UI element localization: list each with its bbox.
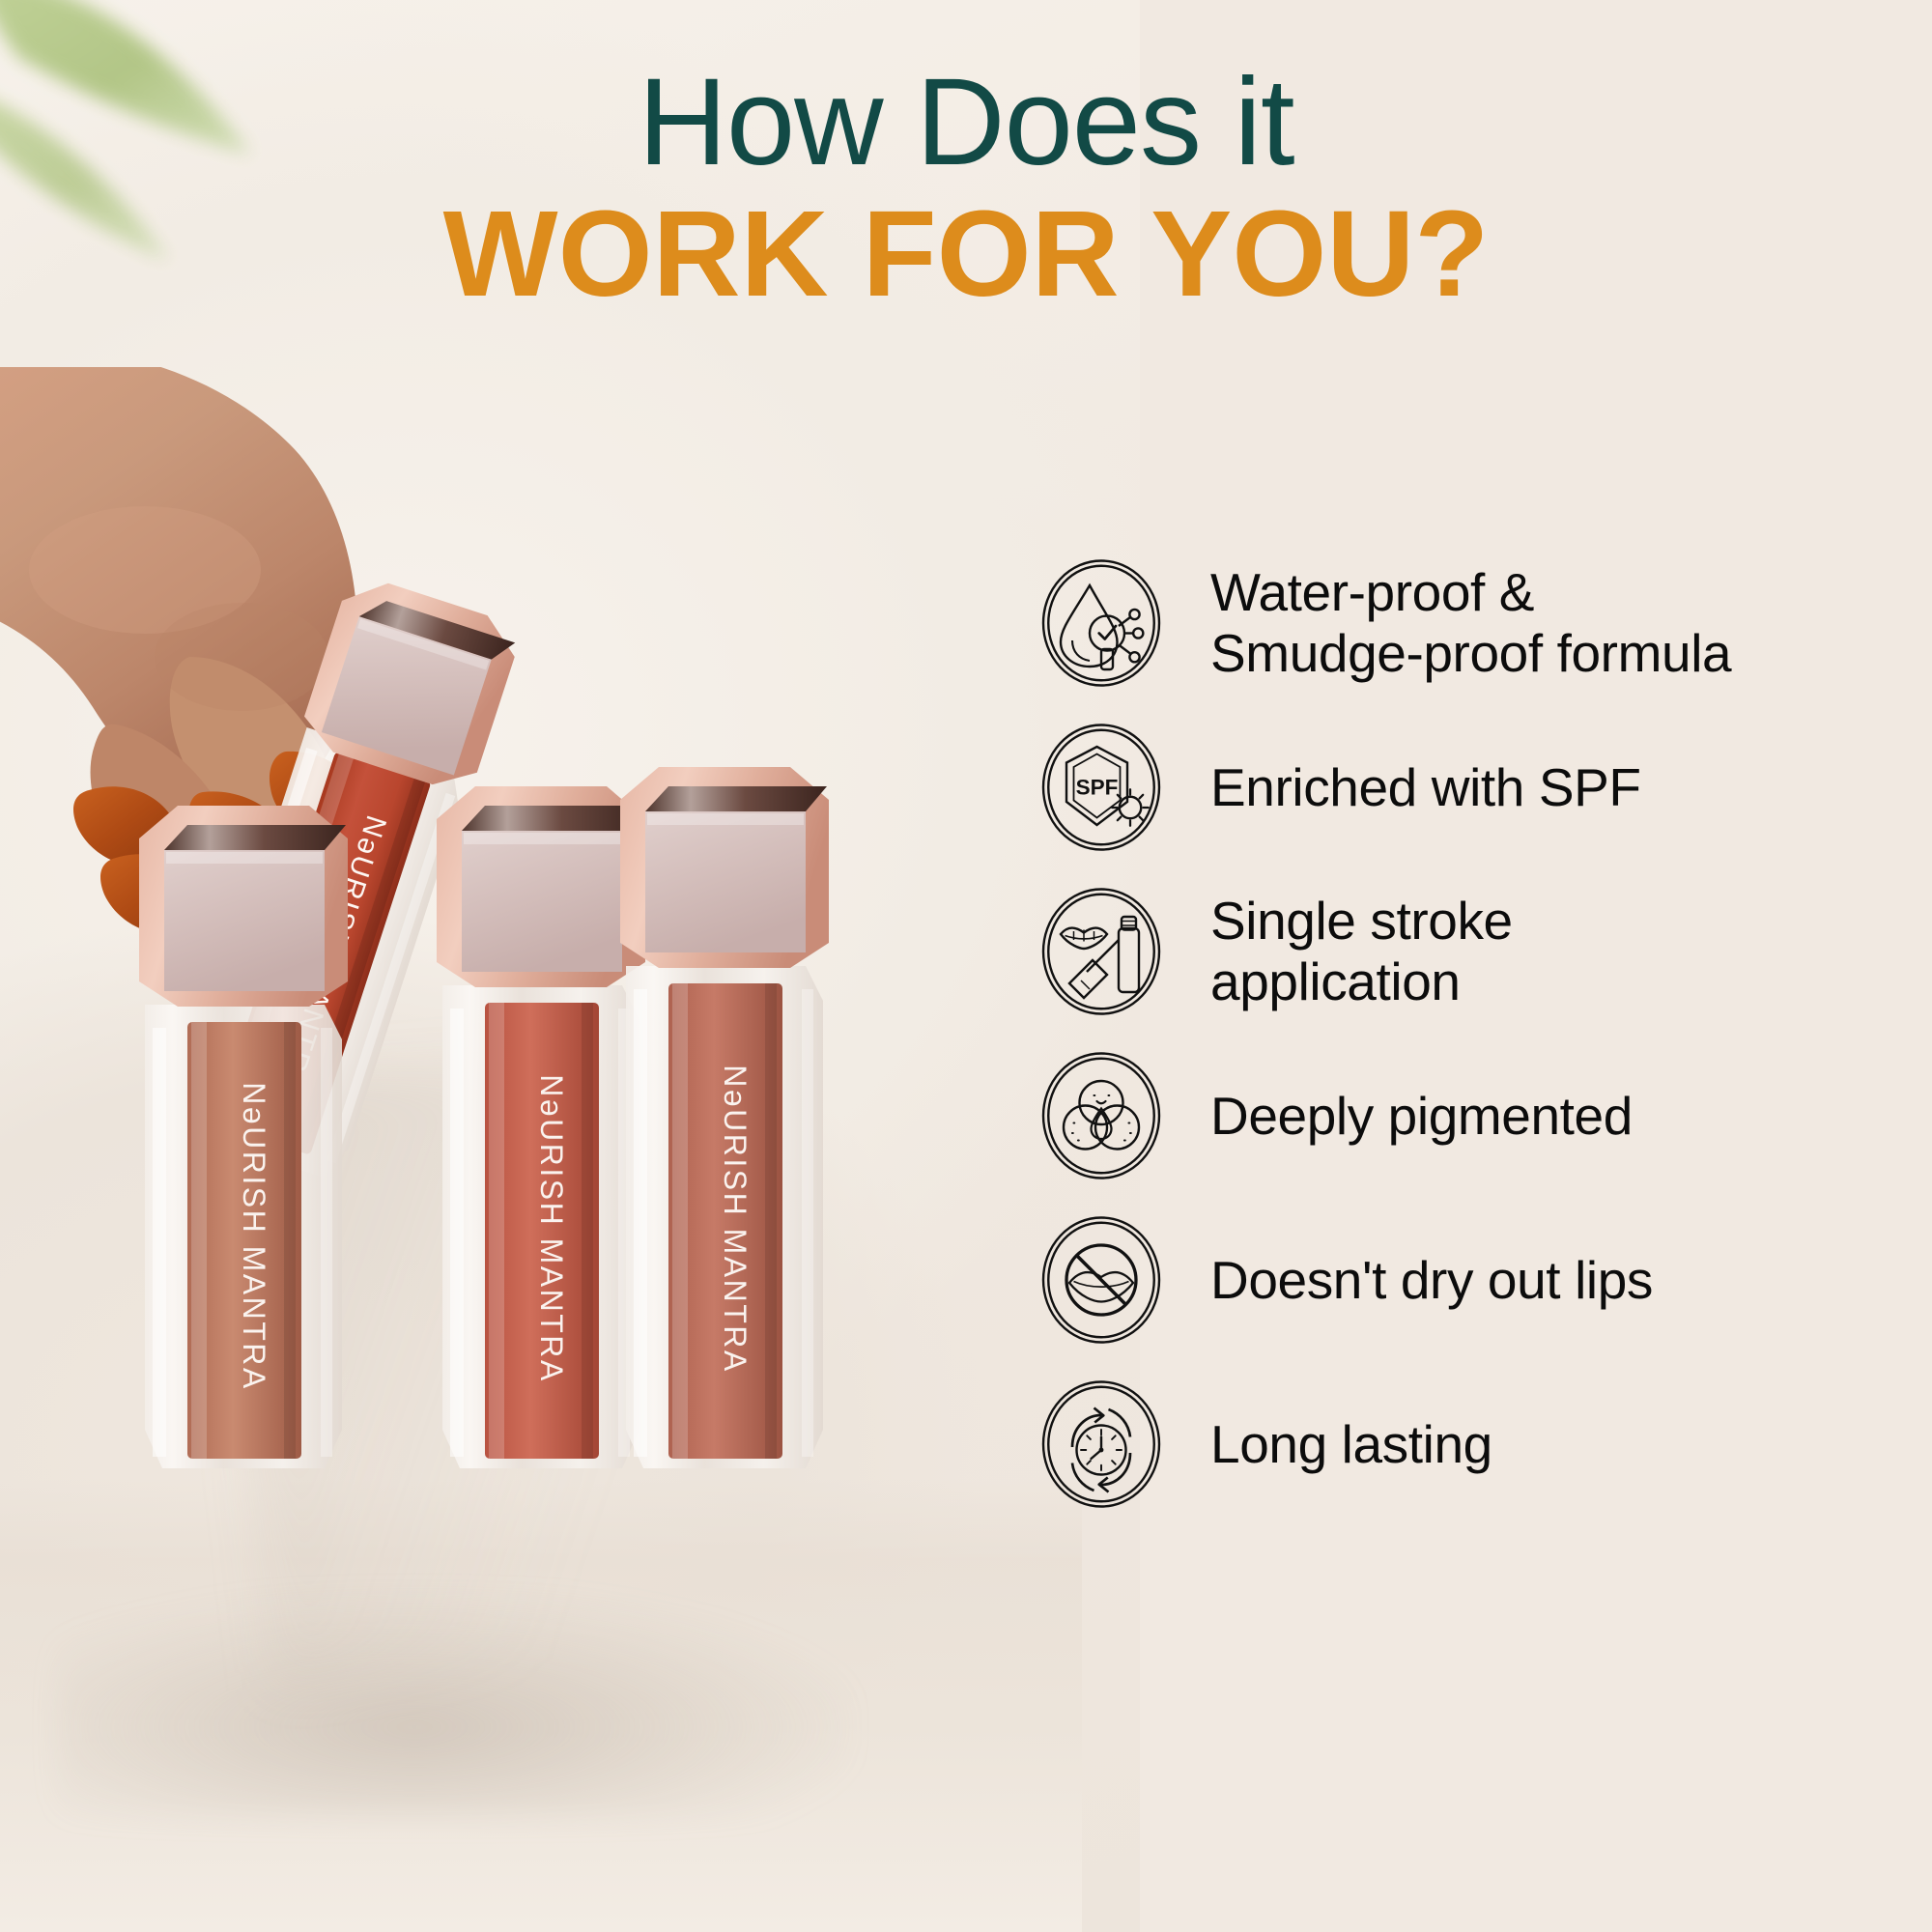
bottle-cap — [437, 786, 645, 987]
poster-canvas: How Does it WORK FOR YOU? — [0, 0, 1932, 1932]
bottle-right: NəURISH MANTRA — [620, 767, 829, 1468]
feature-label: Water-proof & Smudge-proof formula — [1210, 562, 1731, 683]
clock-refresh-icon — [1029, 1372, 1174, 1517]
bottle-cap — [620, 767, 829, 968]
product-illustration: NəURISH MANTRA NəURISH MANTRA — [0, 367, 1024, 1932]
feature-item-pigmented[interactable]: Deeply pigmented — [1029, 1034, 1879, 1198]
brand-text: NəURISH MANTRA — [237, 1082, 271, 1390]
feature-item-spf[interactable]: SPF Enriched with SPF — [1029, 705, 1879, 869]
brand-text: NəURISH MANTRA — [534, 1074, 569, 1382]
feature-label: Deeply pigmented — [1210, 1086, 1633, 1147]
pigment-venn-droplet-icon — [1029, 1043, 1174, 1188]
feature-label: Single stroke application — [1210, 891, 1513, 1011]
heading-block: How Does it WORK FOR YOU? — [0, 60, 1932, 317]
spf-label: SPF — [1076, 776, 1119, 800]
feature-item-long-lasting[interactable]: Long lasting — [1029, 1362, 1879, 1526]
bottle-center: NəURISH MANTRA — [437, 786, 645, 1468]
product-photo: NəURISH MANTRA NəURISH MANTRA — [0, 367, 1024, 1932]
page-title-line2: WORK FOR YOU? — [0, 190, 1932, 317]
bottle-cap — [139, 806, 348, 1007]
waterproof-droplet-check-icon — [1029, 551, 1174, 696]
feature-label: Enriched with SPF — [1210, 757, 1641, 818]
brand-text: NəURISH MANTRA — [718, 1065, 753, 1373]
feature-list: Water-proof & Smudge-proof formula SPF — [1029, 541, 1879, 1526]
feature-item-no-dry-lips[interactable]: Doesn't dry out lips — [1029, 1198, 1879, 1362]
feature-label: Doesn't dry out lips — [1210, 1250, 1653, 1311]
feature-item-single-stroke[interactable]: Single stroke application — [1029, 869, 1879, 1034]
bottle-left: NəURISH MANTRA — [139, 806, 348, 1468]
page-title-line1: How Does it — [0, 60, 1932, 186]
spf-shield-sun-icon: SPF — [1029, 715, 1174, 860]
no-dry-lips-icon — [1029, 1207, 1174, 1352]
feature-item-waterproof[interactable]: Water-proof & Smudge-proof formula — [1029, 541, 1879, 705]
lips-applicator-wand-icon — [1029, 879, 1174, 1024]
feature-label: Long lasting — [1210, 1414, 1492, 1475]
